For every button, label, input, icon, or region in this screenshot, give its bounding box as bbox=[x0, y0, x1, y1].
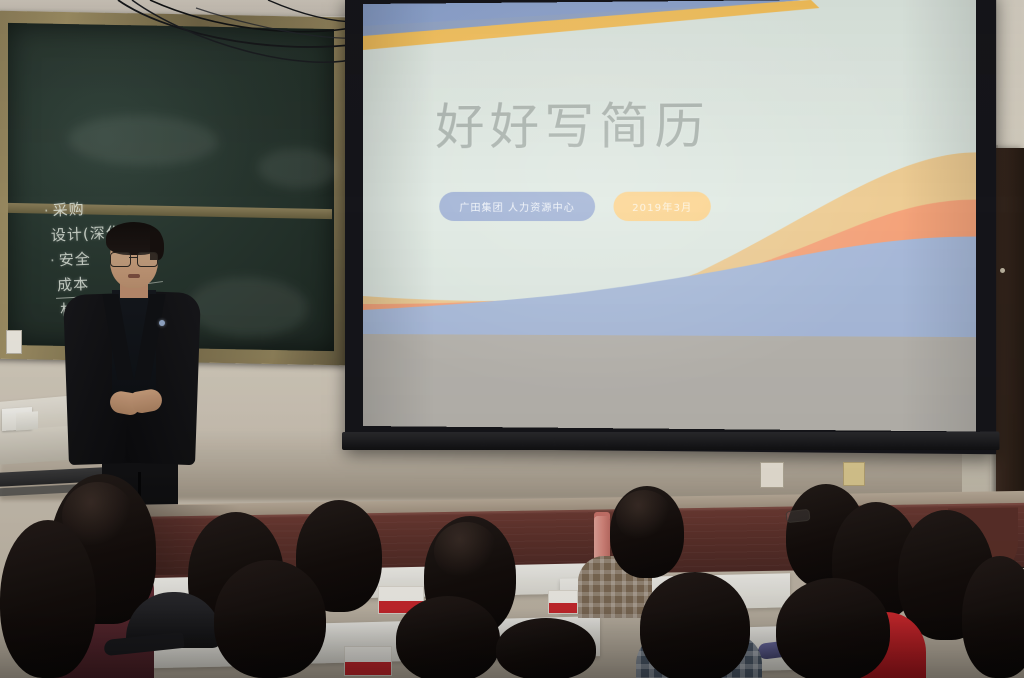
audience-head bbox=[962, 556, 1024, 678]
badge-organization: 广田集团 人力资源中心 bbox=[439, 192, 595, 221]
glasses-icon bbox=[110, 252, 158, 265]
classroom-photo: 采购 设计(深化) 安全 成本 材 bbox=[0, 0, 1024, 678]
thermos bbox=[594, 516, 610, 560]
slide-title: 好好写简历 bbox=[435, 86, 710, 159]
red-banded-box bbox=[548, 590, 578, 614]
badge-date: 2019年3月 bbox=[614, 192, 711, 221]
wall-socket bbox=[6, 330, 22, 354]
presenter-mouth bbox=[128, 274, 140, 278]
audience-head bbox=[776, 578, 890, 678]
wall-outlet[interactable] bbox=[760, 462, 784, 488]
glasses-bridge bbox=[129, 257, 137, 258]
glasses-lens-left bbox=[110, 252, 131, 267]
audience-head bbox=[496, 618, 596, 678]
wall-label bbox=[843, 462, 865, 486]
slide-badges: 广田集团 人力资源中心 2019年3月 bbox=[439, 192, 711, 221]
audience-head bbox=[214, 560, 326, 678]
lapel-pin bbox=[159, 320, 165, 326]
audience-head bbox=[0, 520, 96, 678]
presentation-slide: 好好写简历 广田集团 人力资源中心 2019年3月 bbox=[363, 0, 976, 432]
chalk-smudge bbox=[68, 114, 218, 167]
door-knob[interactable] bbox=[1000, 268, 1005, 273]
audience-head bbox=[640, 572, 750, 678]
audience-head bbox=[610, 486, 684, 578]
audience-head bbox=[396, 596, 500, 678]
projection-screen: 好好写简历 广田集团 人力资源中心 2019年3月 bbox=[345, 0, 979, 448]
chalk-smudge bbox=[258, 148, 338, 190]
screen-weight-bar bbox=[342, 432, 999, 451]
glasses-lens-right bbox=[137, 252, 158, 267]
paper-stack bbox=[16, 411, 38, 431]
glasses-icon bbox=[785, 509, 810, 523]
red-banded-box bbox=[344, 646, 392, 676]
